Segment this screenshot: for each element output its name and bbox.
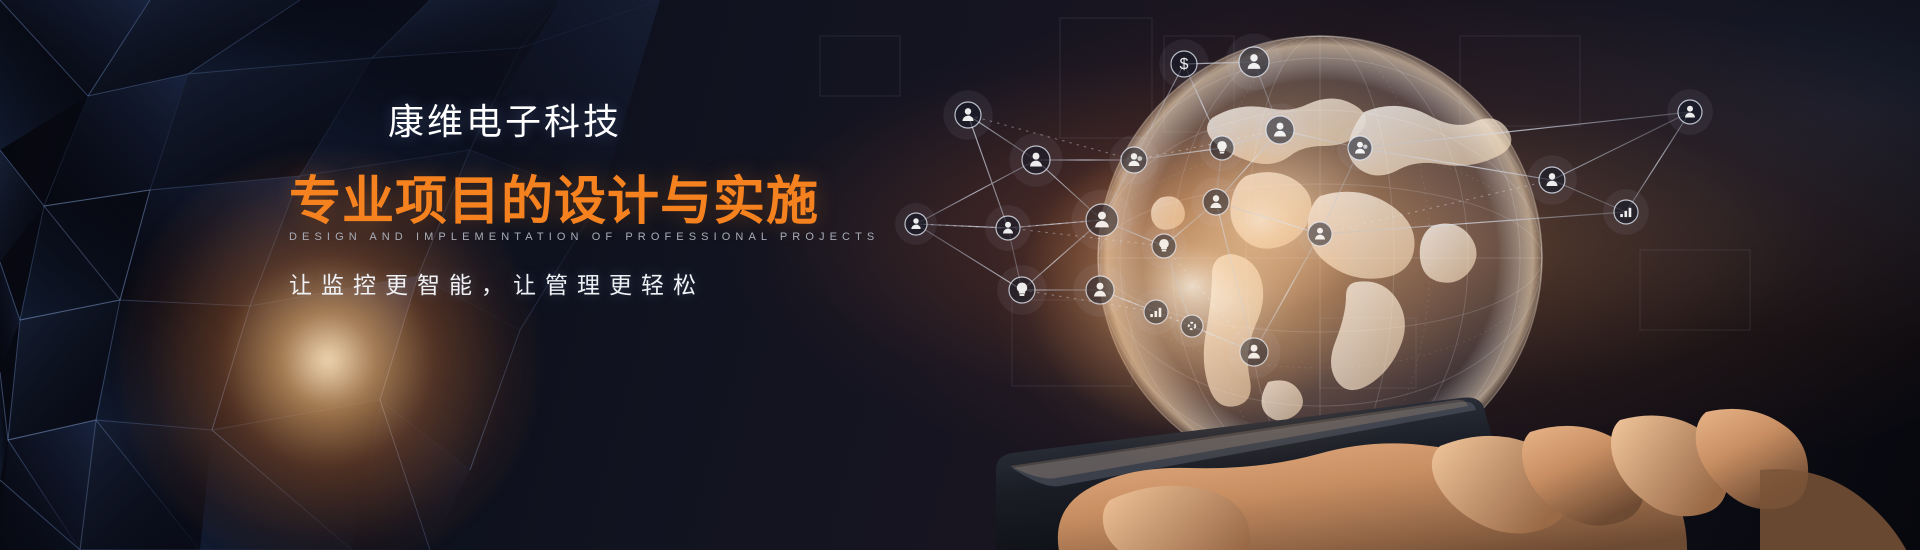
brand-name: 康维电子科技 bbox=[388, 104, 622, 140]
network-node bbox=[943, 90, 992, 139]
network-node bbox=[1667, 89, 1713, 135]
svg-text:$: $ bbox=[1180, 55, 1189, 73]
network-globe-artwork: $ bbox=[760, 0, 1920, 550]
hero-copy: 康维电子科技 专业项目的设计与实施 DESIGN AND IMPLEMENTAT… bbox=[0, 0, 800, 550]
network-node: $ bbox=[1159, 39, 1208, 88]
dollar-icon: $ bbox=[1180, 55, 1189, 73]
network-node bbox=[1527, 155, 1576, 204]
network-node bbox=[1226, 34, 1283, 91]
network-node bbox=[895, 203, 937, 245]
network-node bbox=[1603, 189, 1649, 235]
subtitle-english: DESIGN AND IMPLEMENTATION OF PROFESSIONA… bbox=[289, 232, 879, 243]
page-title: 专业项目的设计与实施 bbox=[289, 176, 819, 228]
tagline: 让监控更智能，让管理更轻松 bbox=[289, 274, 705, 297]
hero-banner: $ 康维电子科 bbox=[0, 0, 1920, 550]
